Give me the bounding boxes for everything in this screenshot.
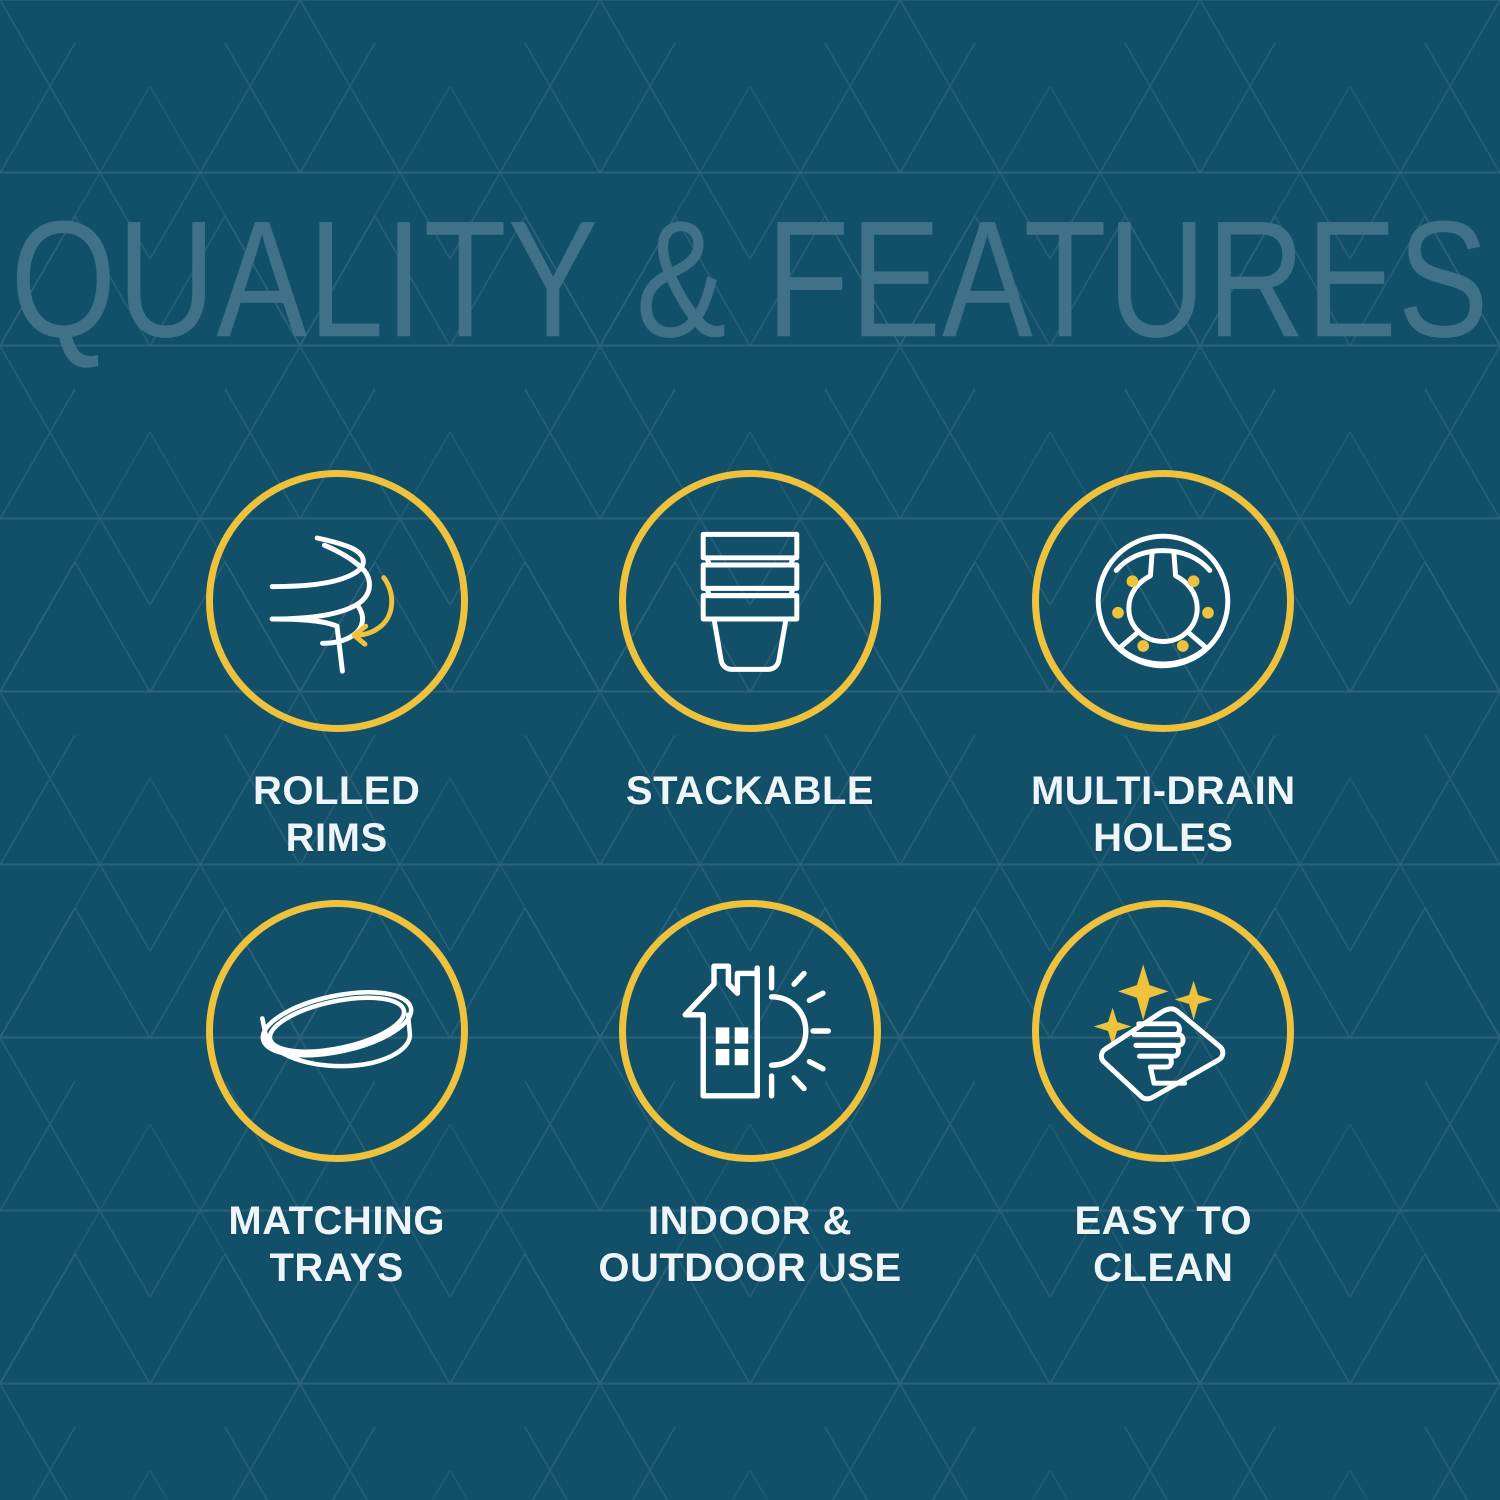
- feature-badge: [619, 470, 881, 732]
- feature-matching-trays[interactable]: MATCHING TRAYS: [130, 900, 543, 1330]
- drain-holes-icon: [1073, 511, 1253, 691]
- feature-label: STACKABLE: [626, 768, 874, 815]
- feature-badge: [619, 900, 881, 1162]
- feature-label: EASY TO CLEAN: [1075, 1198, 1253, 1292]
- oval-tray-icon: [247, 941, 427, 1121]
- feature-infographic: QUALITY & FEATURES: [0, 0, 1500, 1500]
- feature-badge: [1032, 470, 1294, 732]
- feature-multi-drain-holes[interactable]: MULTI-DRAIN HOLES: [957, 470, 1370, 900]
- feature-badge: [206, 470, 468, 732]
- feature-stackable[interactable]: STACKABLE: [543, 470, 956, 900]
- house-sun-icon: [660, 941, 840, 1121]
- wiping-hand-sparkle-icon: [1073, 941, 1253, 1121]
- feature-rolled-rims[interactable]: ROLLED RIMS: [130, 470, 543, 900]
- page-title: QUALITY & FEATURES: [0, 196, 1500, 362]
- feature-grid: ROLLED RIMS STACKABLE: [130, 470, 1370, 1330]
- feature-label: MULTI-DRAIN HOLES: [1031, 768, 1296, 862]
- feature-easy-to-clean[interactable]: EASY TO CLEAN: [957, 900, 1370, 1330]
- feature-badge: [206, 900, 468, 1162]
- feature-indoor-outdoor-use[interactable]: INDOOR & OUTDOOR USE: [543, 900, 956, 1330]
- feature-label: ROLLED RIMS: [253, 768, 420, 862]
- feature-label: INDOOR & OUTDOOR USE: [598, 1198, 901, 1292]
- feature-badge: [1032, 900, 1294, 1162]
- feature-label: MATCHING TRAYS: [228, 1198, 445, 1292]
- stacked-pots-icon: [660, 511, 840, 691]
- rolled-rim-icon: [247, 511, 427, 691]
